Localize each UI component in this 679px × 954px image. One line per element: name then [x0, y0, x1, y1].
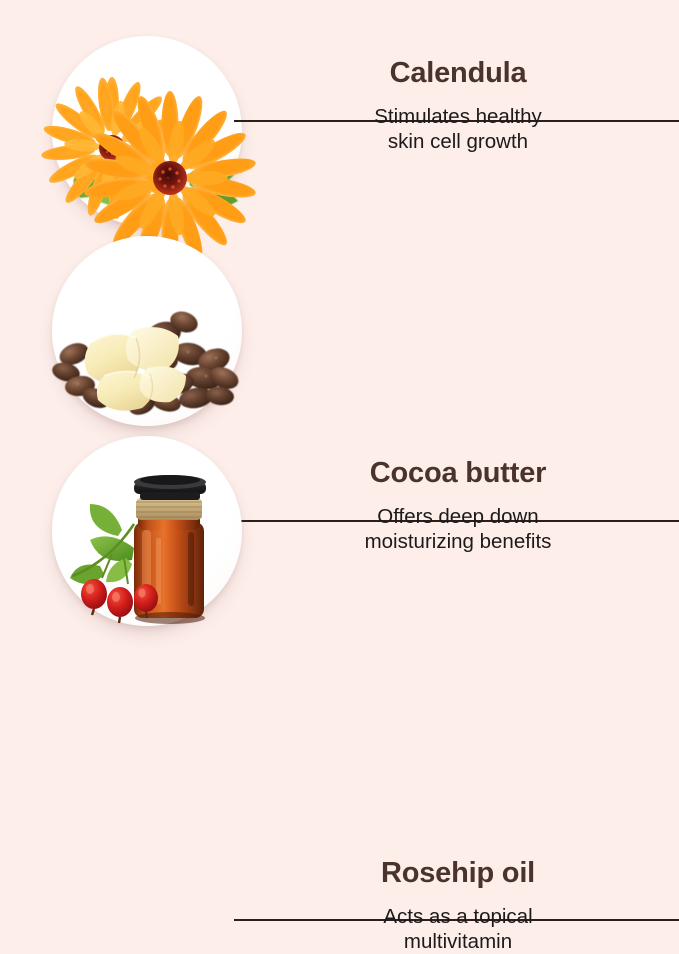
calendula-text-block: Calendula Stimulates healthy skin cell g… [248, 58, 668, 154]
ingredient-benefit: Acts as a topical multivitamin [248, 904, 668, 954]
rosehip-oil-photo [38, 426, 258, 641]
rosehip-oil-text-block: Rosehip oil Acts as a topical multivitam… [248, 858, 668, 954]
ingredient-title: Rosehip oil [248, 858, 668, 888]
ingredient-row-cocoa-butter: Cocoa butter Offers deep down moisturizi… [0, 222, 679, 437]
benefit-line-1: Acts as a topical [248, 904, 668, 929]
benefit-line-1: Stimulates healthy [248, 104, 668, 129]
ingredient-row-calendula: Calendula Stimulates healthy skin cell g… [0, 22, 679, 237]
ingredient-benefit: Stimulates healthy skin cell growth [248, 104, 668, 154]
rosehip-oil-media [52, 436, 242, 626]
benefit-line-2: multivitamin [248, 929, 668, 954]
ingredient-title: Calendula [248, 58, 668, 88]
calendula-flowers-photo [38, 26, 258, 241]
calendula-media [52, 36, 242, 226]
benefit-line-2: skin cell growth [248, 129, 668, 154]
ingredient-benefits-infographic: Calendula Stimulates healthy skin cell g… [0, 0, 679, 679]
cocoa-butter-media [52, 236, 242, 426]
cocoa-butter-photo [38, 226, 258, 441]
ingredient-row-rosehip-oil: Rosehip oil Acts as a topical multivitam… [0, 422, 679, 637]
